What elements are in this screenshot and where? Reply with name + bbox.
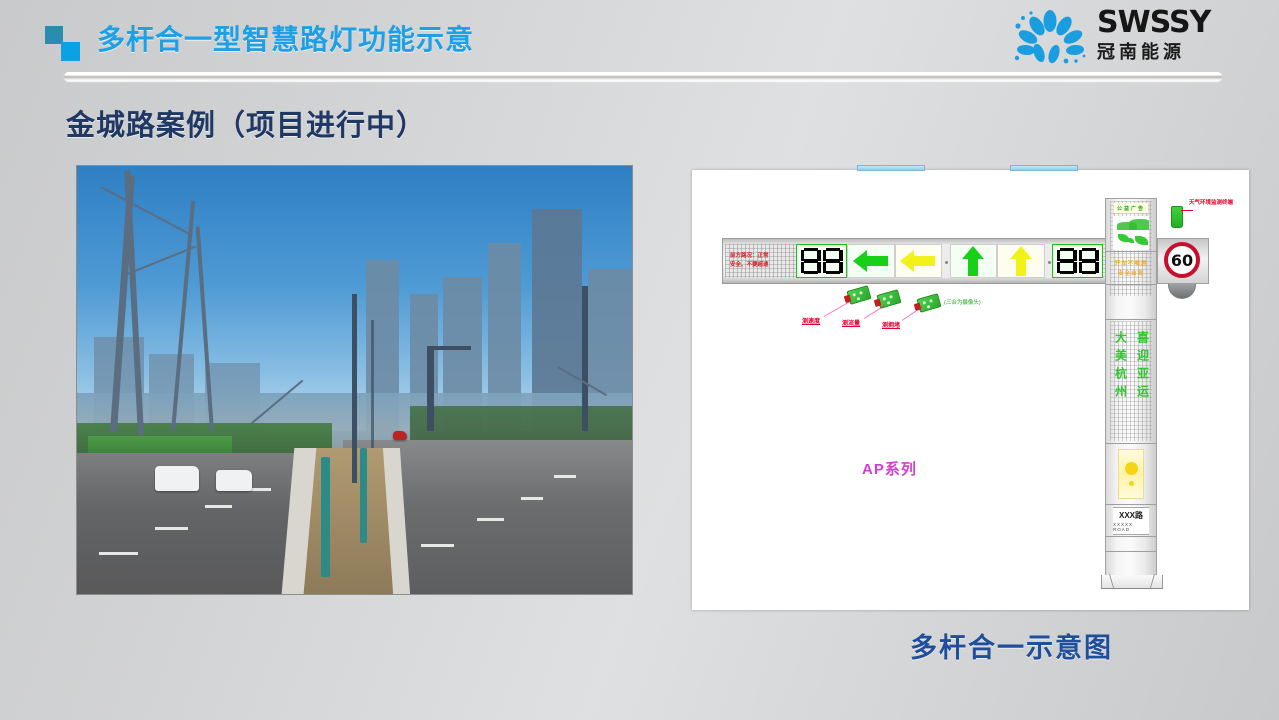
camera-label-congestion: 测拥堵 [882, 320, 900, 329]
hill-shape-icon [1129, 219, 1149, 230]
pole-band [1106, 443, 1156, 444]
gantry-separator [1045, 244, 1052, 278]
gantry-top-cap [1010, 165, 1078, 171]
traffic-camera-icon [876, 289, 901, 309]
pole-band [1106, 284, 1156, 285]
smart-pole: 公益广告 开车不喝酒 安全自驾 大美杭州 喜迎亚运 XXX路 [1105, 198, 1157, 576]
photo-lane-dash [554, 475, 576, 478]
photo-lane-dash [155, 527, 188, 530]
gantry-info-text: 前方路况：正常 安全、不要超速 [725, 244, 796, 278]
page-header: 多杆合一型智慧路灯功能示意 [0, 0, 1279, 88]
pole-scenery-graphic [1113, 216, 1149, 250]
road-name-sign: XXX路 XXXXX ROAD [1113, 507, 1149, 535]
pole-band [1106, 551, 1156, 552]
countdown-display-right [1052, 244, 1103, 278]
pole-base [1101, 575, 1163, 589]
banner-column-2: 喜迎亚运 [1135, 331, 1150, 437]
traffic-camera-icon [916, 293, 941, 313]
gantry-top-cap [857, 165, 925, 171]
safety-line-2: 安全自驾 [1118, 269, 1144, 277]
leader-line [864, 305, 885, 319]
arrow-up-green [950, 244, 998, 278]
diagram-caption: 多杆合一示意图 [910, 626, 1113, 665]
speed-limit-sign: 60 [1164, 242, 1200, 278]
dome-camera-icon [1168, 284, 1196, 299]
pole-band [1106, 504, 1156, 505]
camera-label-speed: 测速度 [802, 316, 820, 325]
road-name-subtext: XXXXX ROAD [1113, 522, 1149, 532]
header-divider [64, 72, 1222, 81]
gantry-info-line-2: 安全、不要超速 [730, 262, 796, 269]
photo-painted-tree [321, 457, 330, 577]
camera-label-flow: 测流量 [842, 318, 860, 327]
photo-street-lamp [427, 346, 435, 432]
speed-limit-value: 60 [1171, 251, 1193, 270]
ap-series-label: AP系列 [862, 458, 917, 479]
seven-segment-digit-icon [1079, 248, 1099, 274]
banner-column-1: 大美杭州 [1113, 331, 1128, 437]
water-droplet-flower-icon [1009, 8, 1091, 68]
safety-line-1: 开车不喝酒 [1115, 259, 1148, 267]
logo-text-block: SWSSY 冠南能源 [1097, 8, 1210, 64]
page-title: 多杆合一型智慧路灯功能示意 [97, 18, 474, 58]
led-dot-icon [1129, 481, 1134, 486]
photo-lane-dash [99, 552, 138, 555]
pole-schematic-diagram: 前方路况：正常 安全、不要超速 [692, 170, 1249, 610]
arrow-left-green [847, 244, 895, 278]
photo-car [155, 466, 199, 492]
road-name-text: XXX路 [1119, 510, 1143, 521]
section-subtitle: 金城路案例（项目进行中） [66, 102, 426, 144]
arrow-up-icon [1007, 244, 1035, 278]
arrow-left-yellow [895, 244, 943, 278]
photo-street-lamp-arm [427, 346, 471, 351]
gantry-separator [942, 244, 949, 278]
photo-street-lamp [582, 286, 588, 432]
seven-segment-digit-icon [823, 248, 843, 274]
seven-segment-digit-icon [801, 248, 821, 274]
gantry-info-line-1: 前方路况：正常 [730, 253, 796, 260]
pole-safety-slogan: 开车不喝酒 安全自驾 [1113, 255, 1149, 281]
leader-line [902, 307, 922, 321]
photo-painted-tree [360, 448, 367, 542]
arrow-up-icon [959, 244, 987, 278]
header-square-light-icon [61, 42, 80, 61]
photo-street-pole [352, 294, 357, 482]
leader-line [824, 301, 850, 317]
photo-lane-dash [521, 497, 543, 500]
countdown-display-left [796, 244, 847, 278]
pole-band [1106, 319, 1156, 320]
leader-line [1181, 210, 1193, 211]
logo-brand: SWSSY [1097, 8, 1210, 38]
pole-top-banner-text: 公益广告 [1117, 205, 1145, 212]
leaf-shape-icon [1127, 238, 1134, 243]
company-logo: SWSSY 冠南能源 [1009, 6, 1259, 70]
photo-lane-dash [421, 544, 454, 547]
camera-note: (三合为摄像头) [944, 298, 981, 306]
photo-car [216, 470, 252, 491]
photo-lane-dash [477, 518, 505, 521]
road-photo [76, 165, 633, 595]
photo-car [393, 431, 406, 440]
photo-lane-dash [249, 488, 271, 491]
logo-brand-cn: 冠南能源 [1097, 40, 1210, 64]
pole-top-banner: 公益广告 [1114, 203, 1148, 213]
photo-lane-dash [205, 505, 233, 508]
weather-terminal-label: 天气环境监测终端 [1189, 198, 1233, 206]
led-dot-icon [1125, 462, 1138, 475]
leaf-shape-icon [1135, 236, 1148, 245]
arrow-left-icon [851, 247, 891, 275]
pole-led-panel [1118, 449, 1144, 499]
seven-segment-digit-icon [1057, 248, 1077, 274]
camera-annotation-group: 测速度 测流量 测拥堵 (三合为摄像头) [802, 286, 1032, 330]
photo-street-pole [371, 320, 374, 448]
arrow-left-icon [898, 247, 938, 275]
arrow-up-yellow [997, 244, 1045, 278]
pole-band [1106, 536, 1156, 537]
pole-band [1106, 251, 1156, 252]
pole-vertical-banner: 大美杭州 喜迎亚运 [1112, 325, 1150, 437]
